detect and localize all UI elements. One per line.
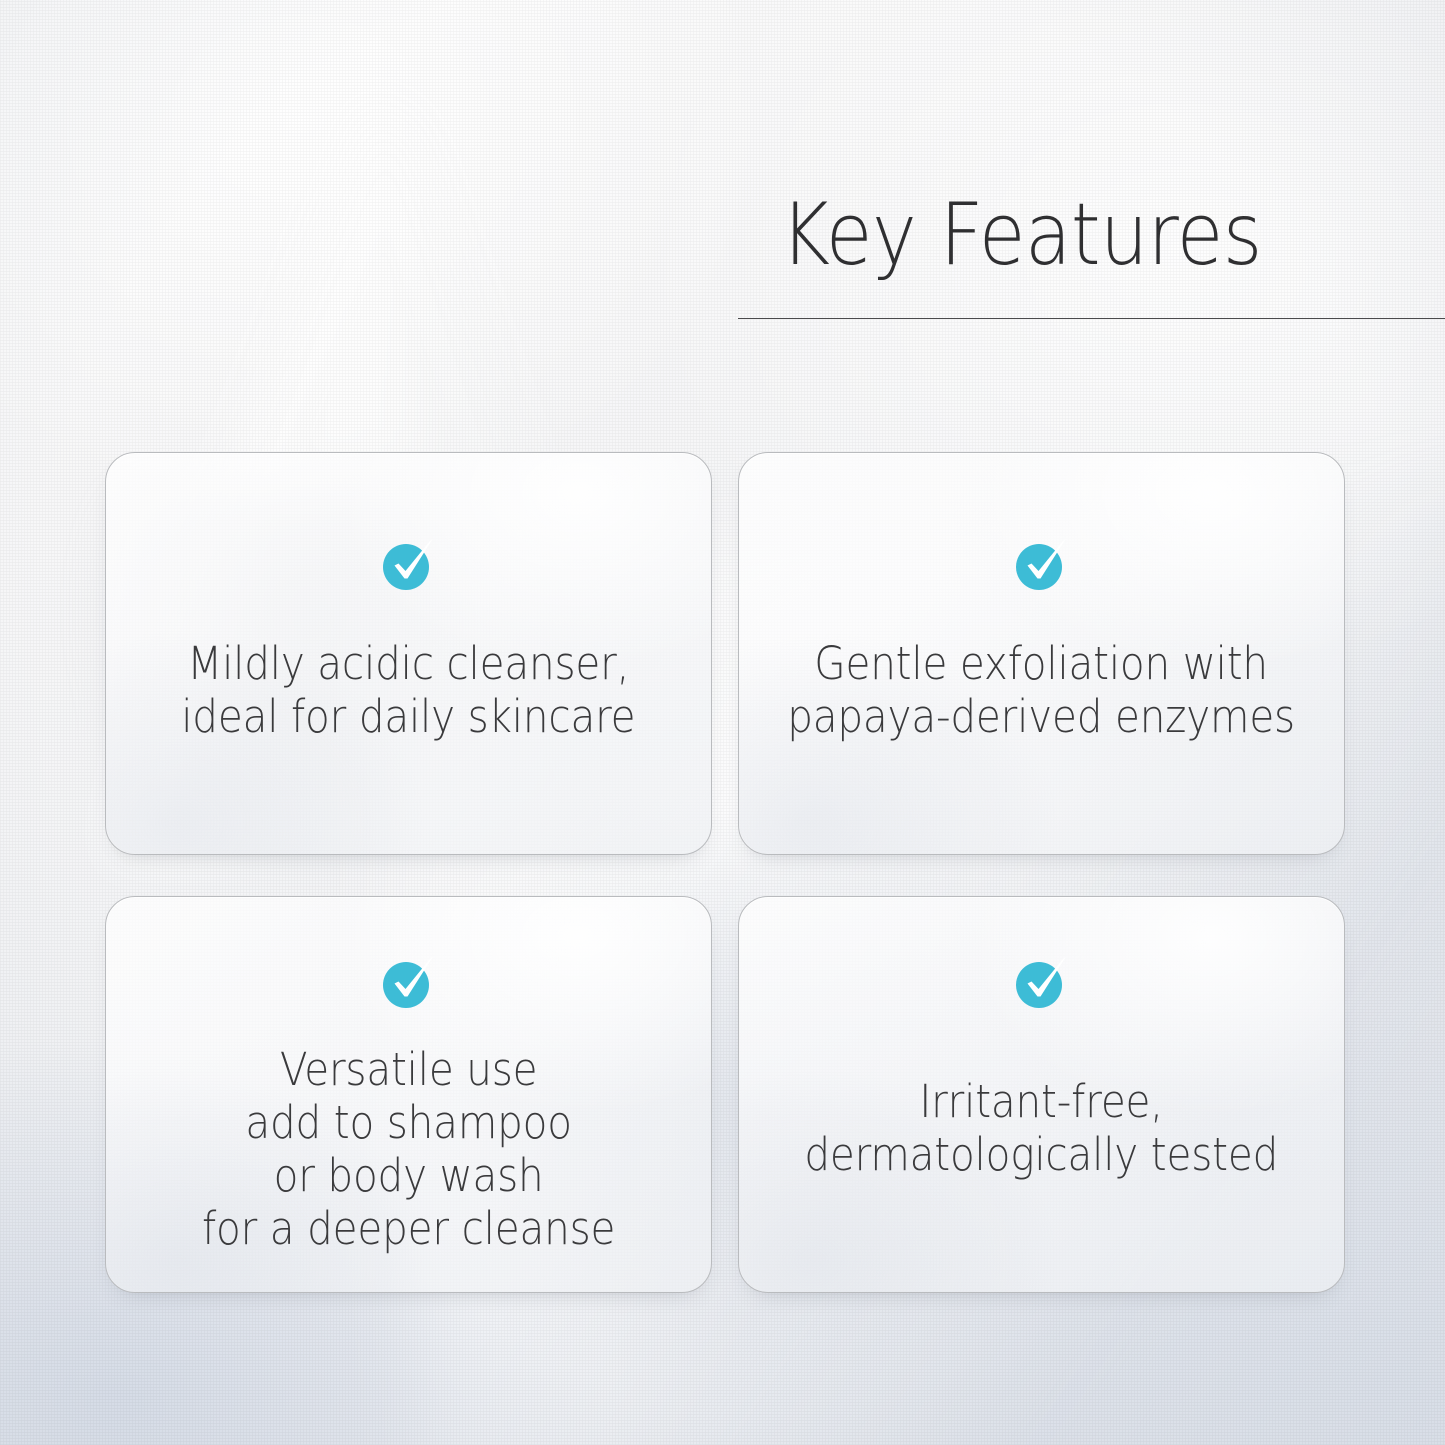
feature-card-text: Mildly acidic cleanser, ideal for daily …: [165, 637, 652, 743]
feature-card-irritant-free[interactable]: Irritant-free, dermatologically tested: [738, 896, 1345, 1293]
check-circle-icon: [377, 531, 441, 595]
check-circle-icon: [377, 949, 441, 1013]
feature-card-versatile-use[interactable]: Versatile use add to shampoo or body was…: [105, 896, 712, 1293]
page-title: Key Features: [780, 192, 1402, 280]
check-circle-icon: [1010, 949, 1074, 1013]
feature-card-mildly-acidic-cleanser[interactable]: Mildly acidic cleanser, ideal for daily …: [105, 452, 712, 855]
feature-card-text: Gentle exfoliation with papaya-derived e…: [771, 637, 1311, 743]
key-features-panel: Key Features Mildly acidic cleanser, ide…: [0, 0, 1445, 1445]
feature-card-text: Versatile use add to shampoo or body was…: [186, 1043, 632, 1255]
feature-card-gentle-exfoliation[interactable]: Gentle exfoliation with papaya-derived e…: [738, 452, 1345, 855]
check-circle-icon: [1010, 531, 1074, 595]
feature-card-text: Irritant-free, dermatologically tested: [788, 1075, 1294, 1181]
header: Key Features: [738, 192, 1445, 280]
feature-card-grid: Mildly acidic cleanser, ideal for daily …: [105, 452, 1345, 1293]
title-divider: [738, 318, 1445, 319]
